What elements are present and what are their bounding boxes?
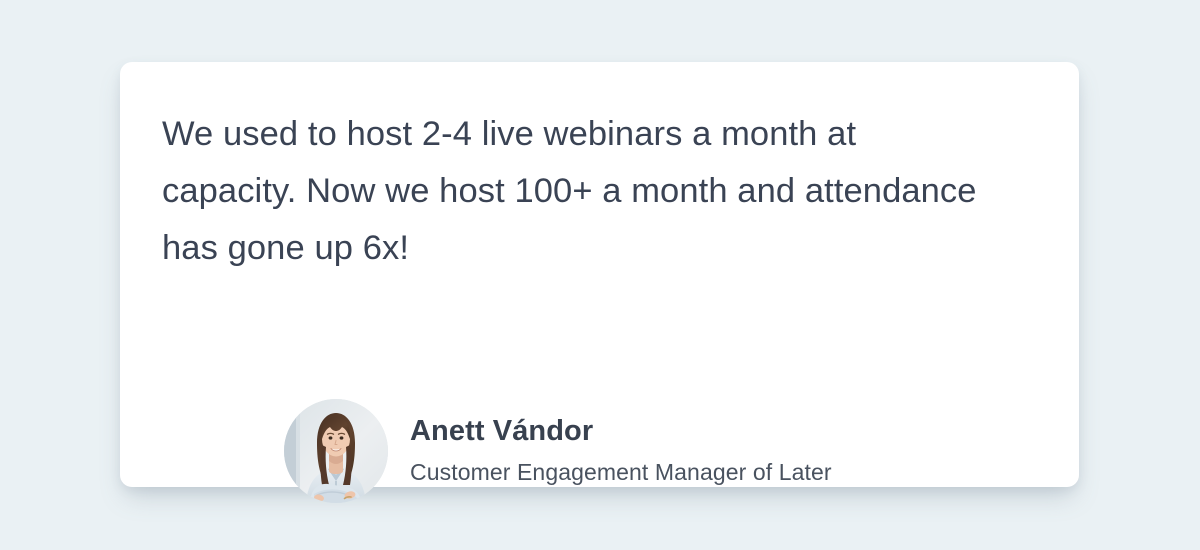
testimonial-quote: We used to host 2-4 live webinars a mont…	[162, 106, 992, 277]
testimonial-card: We used to host 2-4 live webinars a mont…	[120, 62, 1079, 487]
page-background: We used to host 2-4 live webinars a mont…	[0, 0, 1200, 550]
author-title: Customer Engagement Manager of Later	[410, 455, 832, 489]
author-name: Anett Vándor	[410, 413, 832, 449]
person-photo-avatar-icon	[284, 399, 388, 503]
avatar	[284, 399, 388, 503]
author-text-block: Anett Vándor Customer Engagement Manager…	[410, 413, 832, 489]
testimonial-author: Anett Vándor Customer Engagement Manager…	[284, 399, 832, 503]
